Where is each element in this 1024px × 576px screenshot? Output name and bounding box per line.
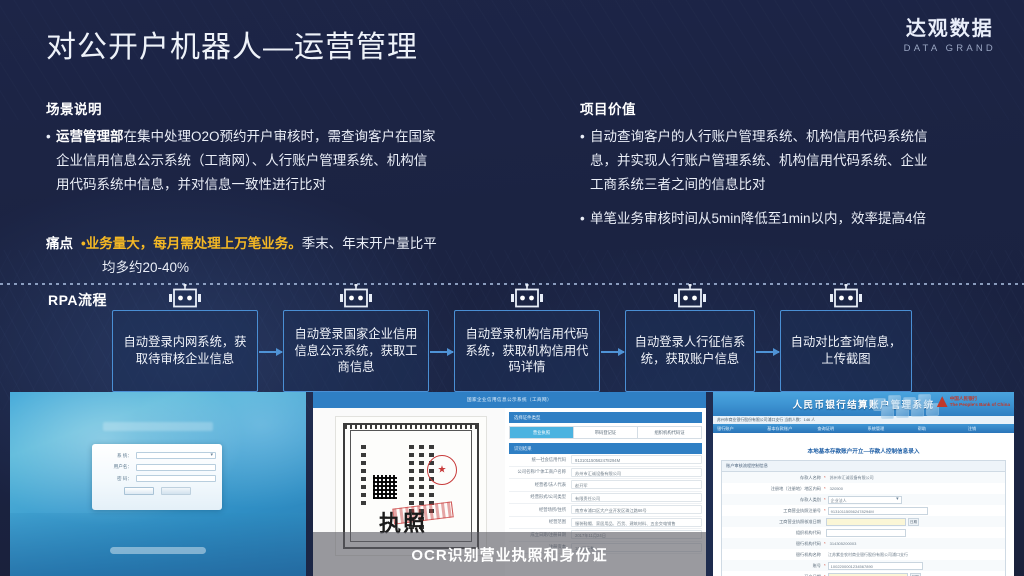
pboc-nav-bar: 银行账户 基本存款账户 查询证明 系统管理 帮助 注销 xyxy=(713,424,1014,433)
pboc-row-label: 注册地（注册地）地区内码 xyxy=(726,486,824,492)
pboc-bank-name-en: The People's Bank of China xyxy=(950,402,1010,408)
pboc-row: 工商营业执照核准日期 日期 xyxy=(722,516,1005,527)
scene-block: • 运营管理部在集中处理O2O预约开户审核时，需查询客户在国家 企业信用信息公示… xyxy=(46,125,566,197)
pboc-row: 存款人类别 * 企业法人 xyxy=(722,494,1005,505)
pboc-status-bar: 苏州市商业银行股份有限公司浦口支行 当前人数：146 人 xyxy=(713,416,1014,424)
pboc-row: 银行机构代码 * 314305200003 xyxy=(722,538,1005,549)
pboc-row: 存款人名称 * 苏州市汇诚设备有限公司 xyxy=(722,472,1005,483)
rpa-arrow-2 xyxy=(430,351,453,353)
pboc-row-label: 存款人类别 xyxy=(726,497,824,503)
robot-icon xyxy=(339,284,373,310)
qr-code-icon xyxy=(373,475,397,499)
pboc-row-value[interactable]: 江苏紫金农村商业银行股份有限公司浦口支行 xyxy=(826,551,1001,559)
ocr-row: 经营场所/住所 南京市浦口区大产业开发区珠江路66号 xyxy=(509,504,702,517)
value-bullet-1-l1: 自动查询客户的人行账户管理系统、机构信用代码系统信 xyxy=(590,125,1000,149)
pboc-row: 工商营业执照注册号 * 913101150562478294M xyxy=(722,505,1005,516)
rpa-step-3[interactable]: 自动登录机构信用代码系统，获取机构信用代码详情 xyxy=(454,310,600,392)
pain-highlight: 业务量大，每月需处理上万笔业务。 xyxy=(86,236,302,251)
login-label-system: 系 统： xyxy=(98,453,132,459)
rpa-step-5-box: 自动对比查询信息，上传截图 xyxy=(780,310,912,392)
license-vtext-1 xyxy=(361,445,366,505)
ocr-caption-text: OCR识别营业执照和身份证 xyxy=(411,544,607,565)
robot-icon xyxy=(510,284,544,310)
login-field-username[interactable]: 用户名： xyxy=(98,464,216,471)
login-input-password[interactable] xyxy=(136,475,216,482)
bullet-dot-icon: • xyxy=(46,125,56,149)
pboc-form-body: 本地基本存款账户开立—存款人控制信息录入 账户审核流程控制信息 存款人名称 * … xyxy=(713,433,1014,576)
calendar-icon[interactable]: 日期 xyxy=(908,518,919,526)
ocr-top-bar-title: 国家企业信用信息公示系统（工商网） xyxy=(467,397,552,403)
pboc-row-label: 银行机构代码 xyxy=(726,541,824,547)
scene-bullet: • 运营管理部在集中处理O2O预约开户审核时，需查询客户在国家 xyxy=(46,125,566,149)
nav-item-logout[interactable]: 注销 xyxy=(964,424,1014,433)
pboc-row-value[interactable]: 苏州市汇诚设备有限公司 xyxy=(828,474,1001,482)
brand-logo: 达观数据 DATA GRAND xyxy=(904,18,996,54)
ocr-field-label: 统一社会信用代码 xyxy=(509,457,571,463)
robot-icon xyxy=(829,284,863,310)
keyboard-decoration-icon xyxy=(871,394,941,414)
rpa-step-4-box: 自动登录人行征信系统，获取账户信息 xyxy=(625,310,755,392)
ocr-field-label: 经营者/法人代表 xyxy=(509,482,571,488)
tab-code-registration[interactable]: 带码登记证 xyxy=(574,427,638,438)
nav-item-system-admin[interactable]: 系统管理 xyxy=(864,424,914,433)
pboc-row-value[interactable] xyxy=(826,518,906,526)
ocr-top-bar: 国家企业信用信息公示系统（工商网） xyxy=(313,392,706,408)
pboc-row: 注册地（注册地）地区内码 * 320500 xyxy=(722,483,1005,494)
pboc-header: 人民币银行结算账户管理系统 中国人民银行 The People's Bank xyxy=(713,392,1014,416)
ocr-field-label: 公司名称/个体工商户名称 xyxy=(509,469,571,475)
ocr-section-doctype: 选择证件类型 xyxy=(509,412,702,423)
ocr-field-value[interactable]: 南京市浦口区大产业开发区珠江路66号 xyxy=(571,505,702,514)
rpa-flow: 自动登录内网系统，获取待审核企业信息 自动登录国家企业信用信息公示系统，获取工商… xyxy=(112,286,912,396)
ocr-row: 经营范围 服装鞋帽、家居用品、百货、建筑材料、五金交电销售 xyxy=(509,517,702,530)
logo-chinese: 达观数据 xyxy=(904,18,996,40)
ocr-section-result: 识别结果 xyxy=(509,443,702,454)
screenshot-pboc-system[interactable]: 人民币银行结算账户管理系统 中国人民银行 The People's Bank xyxy=(713,392,1014,576)
screenshot-intranet-login[interactable]: 系 统： 用户名： 密 码： xyxy=(10,392,306,576)
pboc-row-label: 工商营业执照注册号 xyxy=(726,508,824,514)
ocr-field-label: 经营形式/公司类型 xyxy=(509,494,571,500)
scene-bullet-text: 运营管理部在集中处理O2O预约开户审核时，需查询客户在国家 xyxy=(56,125,566,149)
ocr-field-value[interactable]: 苏州市汇诚设备有限公司 xyxy=(571,468,702,477)
ocr-row: 经营形式/公司类型 有限责任公司 xyxy=(509,492,702,505)
pboc-row: 账号 * 1002200001234567890 xyxy=(722,560,1005,571)
required-marker-icon: * xyxy=(824,541,826,546)
pboc-row-label: 组织机构代码 xyxy=(726,530,824,536)
ocr-doctype-tabs: 营业执照 带码登记证 组织机构代码证 xyxy=(509,426,702,439)
license-seal-icon xyxy=(427,455,457,485)
required-marker-icon: * xyxy=(824,475,826,480)
robot-icon xyxy=(673,284,707,310)
rpa-step-5[interactable]: 自动对比查询信息，上传截图 xyxy=(780,310,912,392)
pboc-row-label: 银行机构名称 xyxy=(726,552,824,558)
nav-item-bank-account[interactable]: 银行账户 xyxy=(713,424,763,433)
required-marker-icon: * xyxy=(824,486,826,491)
pboc-row-value[interactable]: 2018-04-18 xyxy=(828,573,908,576)
ocr-row: 经营者/法人代表 赵开军 xyxy=(509,479,702,492)
ocr-field-value[interactable]: 913101150562478294M xyxy=(571,455,702,464)
license-inner: 执照 xyxy=(350,430,472,542)
pboc-emblem-icon xyxy=(937,396,948,407)
value-bullet-2: • 单笔业务审核时间从5min降低至1min以内，效率提高4倍 xyxy=(580,207,1000,231)
ocr-caption-overlay: OCR识别营业执照和身份证 xyxy=(313,532,706,576)
nav-item-basic-account[interactable]: 基本存款账户 xyxy=(763,424,813,433)
logo-english: DATA GRAND xyxy=(904,43,996,54)
intranet-footer-note xyxy=(110,547,206,554)
ocr-section-doctype-label: 选择证件类型 xyxy=(514,415,540,421)
pboc-row: 开户日期 * 2018-04-18 日期 xyxy=(722,571,1005,576)
pboc-row-label: 工商营业执照核准日期 xyxy=(726,519,824,525)
rpa-step-1[interactable]: 自动登录内网系统，获取待审核企业信息 xyxy=(112,310,258,392)
login-submit-button[interactable] xyxy=(124,487,154,495)
rpa-step-1-box: 自动登录内网系统，获取待审核企业信息 xyxy=(112,310,258,392)
robot-icon xyxy=(168,284,202,310)
rpa-step-2-box: 自动登录国家企业信用信息公示系统，获取工商信息 xyxy=(283,310,429,392)
scene-line2-wrap: 企业信用信息公示系统（工商网）、人行账户管理系统、机构信 用代码系统中信息，并对… xyxy=(46,149,566,197)
pboc-row-label: 账号 xyxy=(726,563,824,569)
pboc-bank-logo: 中国人民银行 The People's Bank of China xyxy=(937,396,1010,407)
login-label-password: 密 码： xyxy=(98,476,132,482)
screenshot-ocr-license[interactable]: 国家企业信用信息公示系统（工商网） xyxy=(313,392,706,576)
value-block: • 自动查询客户的人行账户管理系统、机构信用代码系统信 息，并实现人行账户管理系… xyxy=(580,125,1000,231)
required-marker-icon: * xyxy=(824,563,826,568)
bullet-dot-icon: • xyxy=(580,207,590,231)
value-bullet-2-l1: 单笔业务审核时间从5min降低至1min以内，效率提高4倍 xyxy=(590,207,1000,231)
tab-org-code[interactable]: 组织机构代码证 xyxy=(638,427,701,438)
pboc-row: 组织机构代码 xyxy=(722,527,1005,538)
required-marker-icon: * xyxy=(824,497,826,502)
rpa-step-3-box: 自动登录机构信用代码系统，获取机构信用代码详情 xyxy=(454,310,600,392)
license-border-ornament: 执照 xyxy=(343,423,479,549)
rpa-flow-label: RPA流程 xyxy=(48,290,107,310)
bullet-dot-icon: • xyxy=(580,125,590,149)
value-bullet-1: • 自动查询客户的人行账户管理系统、机构信用代码系统信 xyxy=(580,125,1000,149)
ocr-field-value[interactable]: 赵开军 xyxy=(571,480,702,489)
pboc-row-label: 存款人名称 xyxy=(726,475,824,481)
pboc-row-value[interactable]: 314305200003 xyxy=(828,540,1001,548)
login-buttons xyxy=(98,487,216,495)
pain-label: 痛点 xyxy=(46,236,73,251)
login-card: 系 统： 用户名： 密 码： xyxy=(92,444,222,510)
pboc-bank-name: 中国人民银行 The People's Bank of China xyxy=(950,396,1010,407)
pain-line1: 痛点•业务量大，每月需处理上万笔业务。季末、年末开户量比平 xyxy=(46,232,586,256)
pboc-row-value[interactable]: 913101150562478294M xyxy=(828,507,928,515)
pboc-row-value[interactable]: 1002200001234567890 xyxy=(828,562,923,570)
value-heading: 项目价值 xyxy=(580,98,636,118)
pain-line2: 均多约20-40% xyxy=(102,256,586,280)
ocr-row: 公司名称/个体工商户名称 苏州市汇诚设备有限公司 xyxy=(509,467,702,480)
login-field-password[interactable]: 密 码： xyxy=(98,475,216,482)
screenshot-strip: 系 统： 用户名： 密 码： 国家 xyxy=(0,392,1024,576)
ocr-field-value[interactable]: 有限责任公司 xyxy=(571,493,702,502)
ocr-field-value[interactable]: 服装鞋帽、家居用品、百货、建筑材料、五金交电销售 xyxy=(571,518,702,527)
scene-bold-lead: 运营管理部 xyxy=(56,129,124,144)
rpa-arrow-4 xyxy=(756,351,779,353)
slide-root: 对公开户机器人—运营管理 达观数据 DATA GRAND 场景说明 • 运营管理… xyxy=(0,0,1024,576)
page-title: 对公开户机器人—运营管理 xyxy=(46,22,418,66)
pboc-row-value[interactable]: 320500 xyxy=(828,485,1001,493)
login-select-system[interactable] xyxy=(136,452,216,459)
intranet-title-blur xyxy=(103,422,213,431)
rpa-arrow-3 xyxy=(601,351,624,353)
pboc-row: 银行机构名称 江苏紫金农村商业银行股份有限公司浦口支行 xyxy=(722,549,1005,560)
pboc-row-select[interactable]: 企业法人 xyxy=(828,496,902,504)
calendar-icon[interactable]: 日期 xyxy=(910,573,921,576)
login-forgot-button[interactable] xyxy=(161,487,191,495)
ocr-field-label: 经营场所/住所 xyxy=(509,507,571,513)
login-field-system[interactable]: 系 统： xyxy=(98,452,216,459)
ocr-section-result-label: 识别结果 xyxy=(514,446,532,452)
rpa-step-4[interactable]: 自动登录人行征信系统，获取账户信息 xyxy=(625,310,755,392)
required-marker-icon: * xyxy=(824,508,826,513)
ocr-field-label: 经营范围 xyxy=(509,519,571,525)
scene-line3: 用代码系统中信息，并对信息一致性进行比对 xyxy=(56,173,566,197)
pboc-row-value[interactable] xyxy=(826,529,906,537)
rpa-arrow-1 xyxy=(259,351,282,353)
rpa-step-2[interactable]: 自动登录国家企业信用信息公示系统，获取工商信息 xyxy=(283,310,429,392)
pain-point-block: 痛点•业务量大，每月需处理上万笔业务。季末、年末开户量比平 均多约20-40% xyxy=(46,232,586,280)
pboc-form-panel: 账户审核流程控制信息 存款人名称 * 苏州市汇诚设备有限公司 注册地（注册地）地… xyxy=(721,460,1006,576)
tab-business-license[interactable]: 营业执照 xyxy=(510,427,574,438)
pboc-form-title: 本地基本存款账户开立—存款人控制信息录入 xyxy=(721,447,1006,455)
pain-rest: 季末、年末开户量比平 xyxy=(302,236,437,251)
scene-line2: 企业信用信息公示系统（工商网）、人行账户管理系统、机构信 xyxy=(56,149,566,173)
nav-item-help[interactable]: 帮助 xyxy=(914,424,964,433)
pboc-panel-heading: 账户审核流程控制信息 xyxy=(722,461,1005,472)
ocr-row: 统一社会信用代码 913101150562478294M xyxy=(509,454,702,467)
login-label-username: 用户名： xyxy=(98,464,132,470)
scene-heading: 场景说明 xyxy=(46,98,102,118)
value-bullet-1-l3: 工商系统三者之间的信息比对 xyxy=(580,173,1000,197)
login-input-username[interactable] xyxy=(136,464,216,471)
value-bullet-1-l2: 息，并实现人行账户管理系统、机构信用代码系统、企业 xyxy=(580,149,1000,173)
nav-item-query-cert[interactable]: 查询证明 xyxy=(813,424,863,433)
scene-line1: 在集中处理O2O预约开户审核时，需查询客户在国家 xyxy=(124,129,436,144)
